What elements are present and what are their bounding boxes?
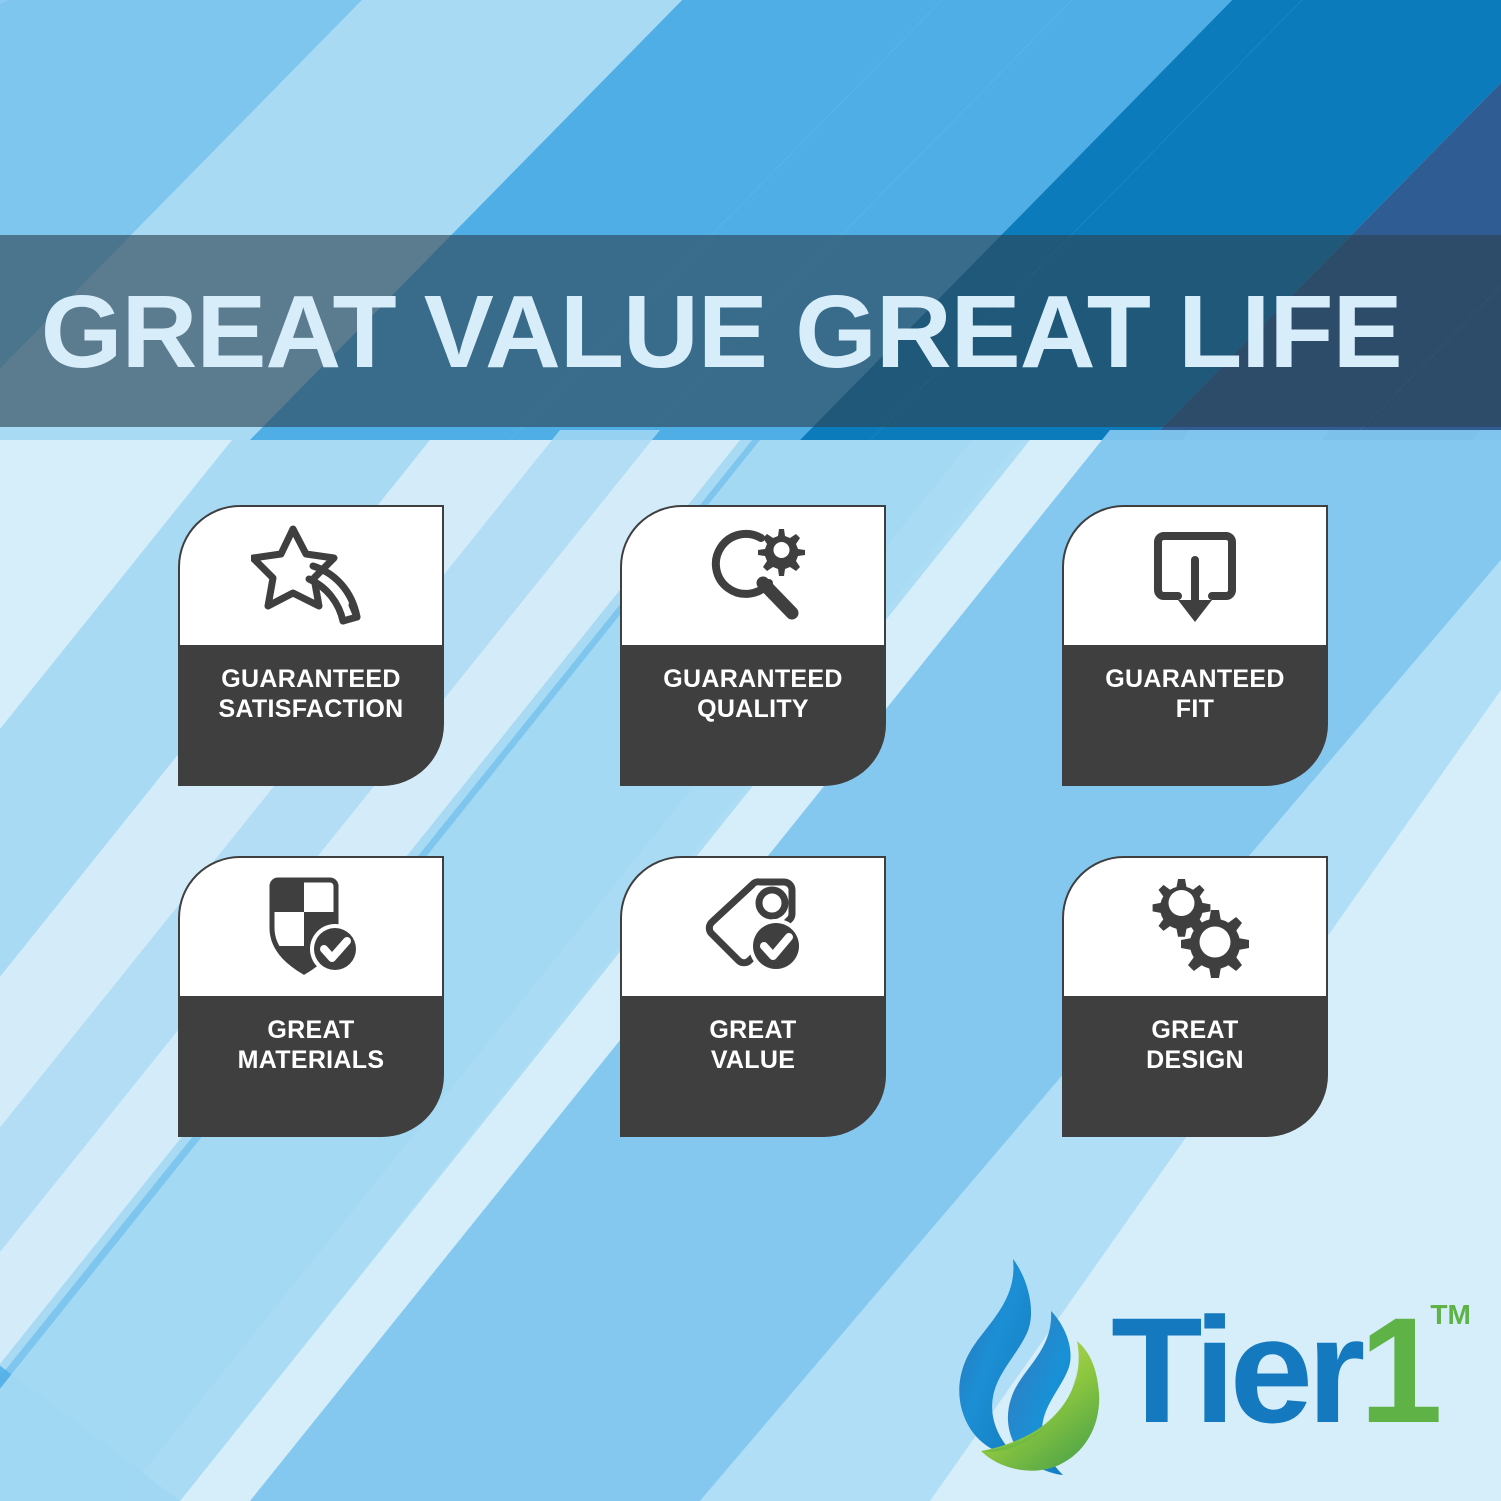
card-label: GREAT DESIGN [1062,1016,1328,1075]
feature-card-guaranteed-satisfaction[interactable]: GUARANTEED SATISFACTION [178,505,444,786]
poster-canvas: GREAT VALUE GREAT LIFE GUARANTEED SATISF… [0,0,1501,1501]
card-label: GUARANTEED SATISFACTION [178,665,444,724]
gears-icon [1064,858,1326,996]
logo-number-one: 1 [1359,1286,1436,1454]
card-label-line1: GUARANTEED [663,665,842,693]
price-tag-check-icon [622,858,884,996]
card-label-line2: MATERIALS [186,1046,436,1076]
card-label-line1: GREAT [709,1016,796,1044]
trademark-symbol: TM [1430,1301,1470,1329]
fit-arrow-box-icon [1064,507,1326,645]
tier1-logo: Tier1 TM [955,1252,1475,1487]
card-label-line1: GUARANTEED [1105,665,1284,693]
header-banner: GREAT VALUE GREAT LIFE [0,235,1501,427]
logo-wordmark: Tier1 TM [1111,1295,1437,1445]
card-label-line2: SATISFACTION [186,695,436,725]
magnifier-gear-icon [622,507,884,645]
card-label: GUARANTEED FIT [1062,665,1328,724]
card-label: GUARANTEED QUALITY [620,665,886,724]
feature-card-guaranteed-fit[interactable]: GUARANTEED FIT [1062,505,1328,786]
card-label-line1: GREAT [267,1016,354,1044]
shield-check-icon [180,858,442,996]
shooting-star-icon [180,507,442,645]
feature-card-guaranteed-quality[interactable]: GUARANTEED QUALITY [620,505,886,786]
card-label-line1: GUARANTEED [221,665,400,693]
card-label-line2: QUALITY [628,695,878,725]
logo-brand-text: Tier [1111,1286,1359,1454]
card-label-line2: DESIGN [1070,1046,1320,1076]
tier1-droplet-leaf-icon [955,1255,1105,1485]
feature-card-great-value[interactable]: GREAT VALUE [620,856,886,1137]
card-label: GREAT VALUE [620,1016,886,1075]
feature-card-great-materials[interactable]: GREAT MATERIALS [178,856,444,1137]
card-label-line1: GREAT [1151,1016,1238,1044]
feature-card-great-design[interactable]: GREAT DESIGN [1062,856,1328,1137]
page-title: GREAT VALUE GREAT LIFE [0,280,1402,383]
card-label-line2: FIT [1070,695,1320,725]
card-label: GREAT MATERIALS [178,1016,444,1075]
card-label-line2: VALUE [628,1046,878,1076]
